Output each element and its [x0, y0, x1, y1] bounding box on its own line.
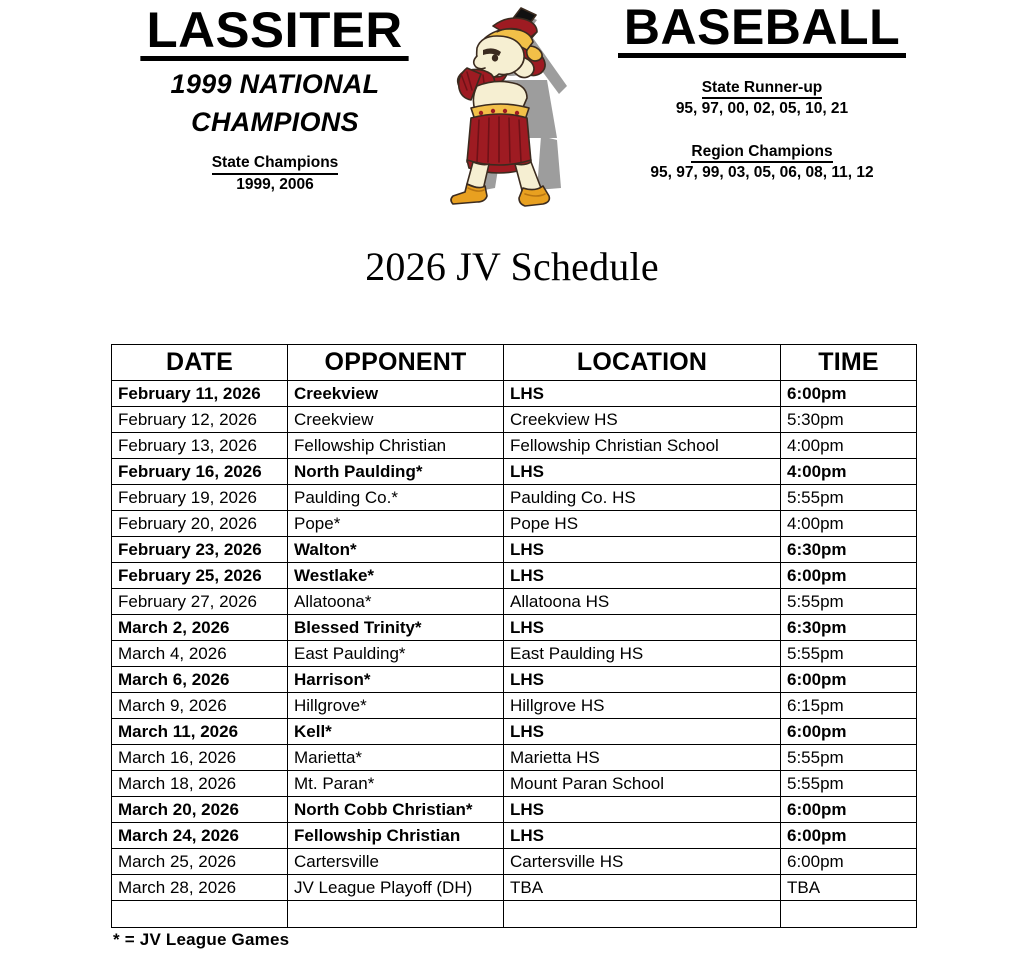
trojan-mascot-icon — [437, 2, 597, 210]
cell-time: 5:55pm — [781, 745, 917, 771]
cell-opponent: Hillgrove* — [288, 693, 504, 719]
cell-time: 6:00pm — [781, 849, 917, 875]
state-champions-label: State Champions — [212, 153, 339, 174]
cell-location: LHS — [504, 797, 781, 823]
cell-opponent: Walton* — [288, 537, 504, 563]
cell-opponent: Mt. Paran* — [288, 771, 504, 797]
table-row: February 16, 2026North Paulding*LHS4:00p… — [112, 459, 917, 485]
cell-date: February 23, 2026 — [112, 537, 288, 563]
region-champions-years: 95, 97, 99, 03, 05, 06, 08, 11, 12 — [608, 163, 916, 183]
cell-date: March 20, 2026 — [112, 797, 288, 823]
table-row: March 25, 2026CartersvilleCartersville H… — [112, 849, 917, 875]
cell-location: Pope HS — [504, 511, 781, 537]
cell-date: March 24, 2026 — [112, 823, 288, 849]
cell-date: March 6, 2026 — [112, 667, 288, 693]
cell-time: 4:00pm — [781, 459, 917, 485]
state-champions-years: 1999, 2006 — [110, 175, 440, 195]
table-row: March 2, 2026Blessed Trinity*LHS6:30pm — [112, 615, 917, 641]
cell-location: LHS — [504, 459, 781, 485]
table-header-row: DATE OPPONENT LOCATION TIME — [112, 345, 917, 381]
cell-date: February 13, 2026 — [112, 433, 288, 459]
cell-date: March 4, 2026 — [112, 641, 288, 667]
cell-location: LHS — [504, 563, 781, 589]
cell-location: Creekview HS — [504, 407, 781, 433]
cell-opponent: North Paulding* — [288, 459, 504, 485]
region-champions-label: Region Champions — [691, 142, 832, 163]
cell-opponent: Westlake* — [288, 563, 504, 589]
cell-opponent: Pope* — [288, 511, 504, 537]
cell-date: March 18, 2026 — [112, 771, 288, 797]
column-header-location: LOCATION — [504, 345, 781, 381]
cell-opponent: JV League Playoff (DH) — [288, 875, 504, 901]
region-champions-group: Region Champions 95, 97, 99, 03, 05, 06,… — [608, 142, 916, 184]
cell-time: 5:55pm — [781, 771, 917, 797]
cell-time — [781, 901, 917, 928]
table-row: March 24, 2026Fellowship ChristianLHS6:0… — [112, 823, 917, 849]
cell-location: East Paulding HS — [504, 641, 781, 667]
cell-time: 6:30pm — [781, 615, 917, 641]
cell-date: March 9, 2026 — [112, 693, 288, 719]
sport-name: BASEBALL — [618, 2, 906, 58]
cell-opponent: North Cobb Christian* — [288, 797, 504, 823]
cell-opponent: Marietta* — [288, 745, 504, 771]
cell-date: February 19, 2026 — [112, 485, 288, 511]
cell-time: 6:15pm — [781, 693, 917, 719]
table-row: February 20, 2026Pope*Pope HS4:00pm — [112, 511, 917, 537]
cell-location: LHS — [504, 615, 781, 641]
cell-date: March 11, 2026 — [112, 719, 288, 745]
schedule-table-body: February 11, 2026CreekviewLHS6:00pmFebru… — [112, 381, 917, 928]
cell-time: 6:00pm — [781, 719, 917, 745]
cell-location: Allatoona HS — [504, 589, 781, 615]
cell-opponent: Cartersville — [288, 849, 504, 875]
cell-location — [504, 901, 781, 928]
cell-date: February 12, 2026 — [112, 407, 288, 433]
table-row-empty — [112, 901, 917, 928]
cell-opponent: Creekview — [288, 381, 504, 407]
cell-opponent: East Paulding* — [288, 641, 504, 667]
cell-opponent: Allatoona* — [288, 589, 504, 615]
table-row: February 19, 2026Paulding Co.*Paulding C… — [112, 485, 917, 511]
cell-date: March 16, 2026 — [112, 745, 288, 771]
cell-location: Cartersville HS — [504, 849, 781, 875]
cell-date: March 28, 2026 — [112, 875, 288, 901]
cell-time: 6:00pm — [781, 563, 917, 589]
cell-time: 6:00pm — [781, 823, 917, 849]
cell-location: LHS — [504, 667, 781, 693]
table-row: March 4, 2026East Paulding*East Paulding… — [112, 641, 917, 667]
cell-opponent: Kell* — [288, 719, 504, 745]
state-runnerup-label: State Runner-up — [702, 78, 823, 99]
cell-time: 4:00pm — [781, 511, 917, 537]
table-row: February 27, 2026Allatoona*Allatoona HS5… — [112, 589, 917, 615]
column-header-opponent: OPPONENT — [288, 345, 504, 381]
cell-location: Hillgrove HS — [504, 693, 781, 719]
cell-location: Marietta HS — [504, 745, 781, 771]
cell-opponent: Fellowship Christian — [288, 823, 504, 849]
cell-date: March 25, 2026 — [112, 849, 288, 875]
cell-date: March 2, 2026 — [112, 615, 288, 641]
header-right-block: BASEBALL State Runner-up 95, 97, 00, 02,… — [608, 2, 916, 183]
cell-time: 4:00pm — [781, 433, 917, 459]
cell-location: LHS — [504, 537, 781, 563]
table-row: February 25, 2026Westlake*LHS6:00pm — [112, 563, 917, 589]
table-row: March 6, 2026Harrison*LHS6:00pm — [112, 667, 917, 693]
school-name: LASSITER — [141, 6, 410, 61]
cell-date: February 20, 2026 — [112, 511, 288, 537]
cell-location: TBA — [504, 875, 781, 901]
cell-time: 5:55pm — [781, 641, 917, 667]
cell-time: 5:55pm — [781, 589, 917, 615]
cell-date: February 16, 2026 — [112, 459, 288, 485]
table-row: March 20, 2026North Cobb Christian*LHS6:… — [112, 797, 917, 823]
column-header-date: DATE — [112, 345, 288, 381]
table-row: March 11, 2026Kell*LHS6:00pm — [112, 719, 917, 745]
table-row: February 23, 2026Walton*LHS6:30pm — [112, 537, 917, 563]
cell-opponent — [288, 901, 504, 928]
cell-time: 6:00pm — [781, 667, 917, 693]
table-row: March 18, 2026Mt. Paran*Mount Paran Scho… — [112, 771, 917, 797]
cell-date: February 11, 2026 — [112, 381, 288, 407]
cell-opponent: Paulding Co.* — [288, 485, 504, 511]
state-runnerup-group: State Runner-up 95, 97, 00, 02, 05, 10, … — [608, 78, 916, 120]
cell-opponent: Creekview — [288, 407, 504, 433]
table-row: February 13, 2026Fellowship ChristianFel… — [112, 433, 917, 459]
table-row: March 16, 2026Marietta*Marietta HS5:55pm — [112, 745, 917, 771]
footnote-legend: * = JV League Games — [113, 930, 289, 950]
cell-time: 6:00pm — [781, 797, 917, 823]
cell-location: Fellowship Christian School — [504, 433, 781, 459]
table-row: March 28, 2026JV League Playoff (DH)TBAT… — [112, 875, 917, 901]
table-row: March 9, 2026Hillgrove*Hillgrove HS6:15p… — [112, 693, 917, 719]
cell-time: 5:30pm — [781, 407, 917, 433]
cell-date — [112, 901, 288, 928]
table-row: February 12, 2026CreekviewCreekview HS5:… — [112, 407, 917, 433]
cell-location: Paulding Co. HS — [504, 485, 781, 511]
cell-opponent: Fellowship Christian — [288, 433, 504, 459]
cell-opponent: Harrison* — [288, 667, 504, 693]
cell-location: LHS — [504, 381, 781, 407]
page-title: 2026 JV Schedule — [0, 243, 1024, 290]
cell-location: Mount Paran School — [504, 771, 781, 797]
cell-time: TBA — [781, 875, 917, 901]
national-champions-line-1: 1999 NATIONAL — [110, 69, 440, 99]
table-row: February 11, 2026CreekviewLHS6:00pm — [112, 381, 917, 407]
cell-date: February 25, 2026 — [112, 563, 288, 589]
cell-time: 6:00pm — [781, 381, 917, 407]
header-left-block: LASSITER 1999 NATIONAL CHAMPIONS State C… — [110, 6, 440, 195]
cell-location: LHS — [504, 823, 781, 849]
cell-time: 6:30pm — [781, 537, 917, 563]
state-champions-group: State Champions 1999, 2006 — [110, 153, 440, 195]
header-banner: LASSITER 1999 NATIONAL CHAMPIONS State C… — [0, 0, 1024, 215]
schedule-table: DATE OPPONENT LOCATION TIME February 11,… — [111, 344, 917, 928]
column-header-time: TIME — [781, 345, 917, 381]
national-champions-line-2: CHAMPIONS — [110, 107, 440, 137]
cell-opponent: Blessed Trinity* — [288, 615, 504, 641]
cell-time: 5:55pm — [781, 485, 917, 511]
cell-location: LHS — [504, 719, 781, 745]
schedule-table-container: DATE OPPONENT LOCATION TIME February 11,… — [111, 344, 916, 928]
cell-date: February 27, 2026 — [112, 589, 288, 615]
state-runnerup-years: 95, 97, 00, 02, 05, 10, 21 — [608, 99, 916, 119]
